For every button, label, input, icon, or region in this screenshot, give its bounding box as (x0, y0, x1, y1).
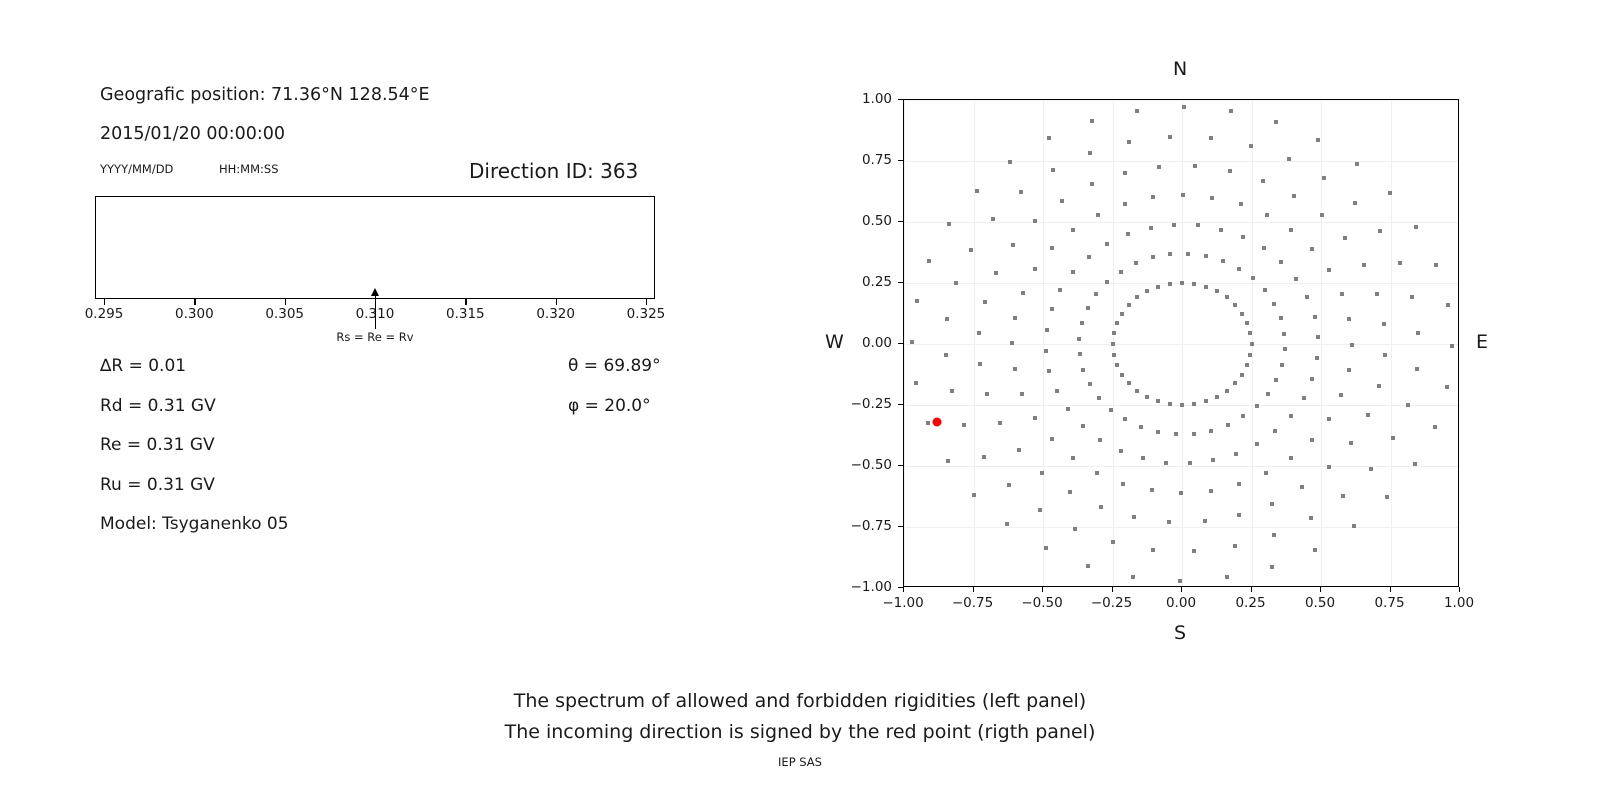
scatter-point (1270, 565, 1274, 569)
plot-gridlines (904, 100, 1458, 586)
scatter-point (1134, 261, 1138, 265)
scatter-point (1272, 533, 1276, 537)
scatter-point (1120, 373, 1124, 377)
x-axis-tick-label: 1.00 (1444, 595, 1474, 611)
scatter-point (1289, 456, 1293, 460)
spectrum-tick (465, 299, 466, 305)
x-axis-tick (1459, 587, 1460, 592)
caption-line-2: The incoming direction is signed by the … (0, 717, 1600, 748)
scatter-point (1151, 255, 1155, 259)
scatter-point (1066, 407, 1070, 411)
scatter-point (1250, 342, 1254, 346)
y-axis-tick-label: −0.75 (837, 518, 892, 534)
x-axis-tick (903, 587, 904, 592)
scatter-point (1265, 213, 1269, 217)
scatter-point (1414, 225, 1418, 229)
scatter-point (1050, 246, 1054, 250)
scatter-point (1182, 105, 1186, 109)
y-axis-tick (898, 221, 903, 222)
scatter-point (1156, 399, 1160, 403)
scatter-point (1115, 321, 1119, 325)
spectrum-tick (104, 299, 105, 305)
scatter-point (1352, 524, 1356, 528)
scatter-point (1105, 280, 1109, 284)
scatter-point (1011, 243, 1015, 247)
scatter-point (1226, 423, 1230, 427)
scatter-point (1310, 247, 1314, 251)
scatter-point (1215, 395, 1219, 399)
x-axis-tick-label: 0.50 (1305, 595, 1335, 611)
scatter-point (1434, 263, 1438, 267)
scatter-point (1013, 316, 1017, 320)
scatter-point (1347, 368, 1351, 372)
scatter-point (1239, 202, 1243, 206)
geographic-position-label: Geografic position: 71.36°N 128.54°E (100, 85, 430, 105)
scatter-point (1261, 179, 1265, 183)
y-axis-tick-label: −0.25 (837, 396, 892, 412)
scatter-point (1156, 430, 1160, 434)
scatter-point (1248, 353, 1252, 357)
parameter-row: ∆R = 0.01 (100, 356, 186, 376)
scatter-point (1375, 292, 1379, 296)
scatter-point (1050, 307, 1054, 311)
x-axis-tick (1390, 587, 1391, 592)
scatter-point (1248, 331, 1252, 335)
scatter-point (1410, 295, 1414, 299)
scatter-point (1382, 322, 1386, 326)
scatter-point (1320, 213, 1324, 217)
scatter-point (1221, 259, 1225, 263)
scatter-point (1008, 160, 1012, 164)
scatter-point (1164, 461, 1168, 465)
scatter-point (1192, 282, 1196, 286)
scatter-point (1255, 404, 1259, 408)
scatter-point (1192, 402, 1196, 406)
scatter-point (1045, 328, 1049, 332)
scatter-point (1086, 306, 1090, 310)
scatter-point (1274, 120, 1278, 124)
scatter-point (1327, 268, 1331, 272)
scatter-point (1126, 232, 1130, 236)
scatter-point (1225, 295, 1229, 299)
scatter-point (1112, 331, 1116, 335)
y-axis-tick-label: 0.50 (837, 213, 892, 229)
scatter-point (1111, 540, 1115, 544)
scatter-point (1055, 389, 1059, 393)
scatter-point (1398, 261, 1402, 265)
scatter-point (1249, 144, 1253, 148)
rigidity-spectrum-bar (95, 196, 655, 299)
scatter-point (1240, 373, 1244, 377)
scatter-point (1406, 403, 1410, 407)
scatter-point (1157, 165, 1161, 169)
scatter-point (1343, 236, 1347, 240)
scatter-point (1094, 292, 1098, 296)
gridline-horizontal (904, 344, 1458, 345)
caption-line-1: The spectrum of allowed and forbidden ri… (0, 686, 1600, 717)
scatter-point (1188, 461, 1192, 465)
scatter-point (1068, 490, 1072, 494)
scatter-point (977, 331, 981, 335)
scatter-point (1416, 331, 1420, 335)
scatter-point (1131, 575, 1135, 579)
scatter-point (1095, 471, 1099, 475)
scatter-point (1088, 151, 1092, 155)
scatter-point (1013, 367, 1017, 371)
rs-marker-arrow-head (371, 288, 379, 296)
scatter-point (1088, 382, 1092, 386)
gridline-horizontal (904, 527, 1458, 528)
scatter-point (1019, 190, 1023, 194)
scatter-point (944, 353, 948, 357)
scatter-point (1233, 381, 1237, 385)
scatter-point (1020, 392, 1024, 396)
gridline-vertical (1043, 100, 1044, 586)
scatter-point (1294, 277, 1298, 281)
scatter-point (1145, 289, 1149, 293)
y-axis-tick-label: 0.00 (837, 335, 892, 351)
scatter-point (927, 259, 931, 263)
scatter-point (1180, 403, 1184, 407)
scatter-point (1010, 341, 1014, 345)
gridline-vertical (1391, 100, 1392, 586)
scatter-point (1228, 169, 1232, 173)
scatter-point (1273, 429, 1277, 433)
scatter-point (926, 421, 930, 425)
scatter-point (1073, 527, 1077, 531)
x-axis-tick-label: −0.25 (1091, 595, 1132, 611)
scatter-point (1181, 193, 1185, 197)
y-axis-tick (898, 160, 903, 161)
x-axis-tick-label: 0.75 (1374, 595, 1404, 611)
scatter-point (1047, 369, 1051, 373)
scatter-point (1366, 413, 1370, 417)
scatter-point (1168, 252, 1172, 256)
scatter-point (1099, 505, 1103, 509)
x-axis-tick (973, 587, 974, 592)
scatter-point (1121, 482, 1125, 486)
scatter-point (1377, 384, 1381, 388)
scatter-point (1149, 226, 1153, 230)
scatter-point (1081, 368, 1085, 372)
y-axis-tick-label: 0.75 (837, 152, 892, 168)
scatter-point (969, 248, 973, 252)
scatter-point (1255, 442, 1259, 446)
parameter-row: Re = 0.31 GV (100, 435, 215, 455)
scatter-point (1123, 417, 1127, 421)
compass-south-label: S (1174, 622, 1186, 644)
scatter-point (1051, 168, 1055, 172)
parameter-row: Rd = 0.31 GV (100, 396, 216, 416)
scatter-point (1445, 385, 1449, 389)
scatter-point (1310, 438, 1314, 442)
scatter-point (947, 222, 951, 226)
direction-map-panel: N S W E −1.00−0.75−0.50−0.250.000.250.50… (800, 0, 1600, 660)
scatter-point (1007, 483, 1011, 487)
scatter-point (1168, 135, 1172, 139)
scatter-point (1098, 438, 1102, 442)
x-axis-tick (1042, 587, 1043, 592)
gridline-horizontal (904, 222, 1458, 223)
scatter-point (1033, 267, 1037, 271)
parameter-row: θ = 69.89° (568, 356, 661, 376)
spectrum-tick (556, 299, 557, 305)
scatter-point (1179, 491, 1183, 495)
scatter-point (1229, 109, 1233, 113)
scatter-point (1413, 462, 1417, 466)
scatter-point (1309, 516, 1313, 520)
scatter-point (998, 421, 1002, 425)
scatter-point (1123, 171, 1127, 175)
scatter-point (1234, 452, 1238, 456)
scatter-point (1388, 191, 1392, 195)
scatter-point (1123, 202, 1127, 206)
scatter-point (1135, 109, 1139, 113)
spectrum-tick (646, 299, 647, 305)
scatter-point (1349, 441, 1353, 445)
scatter-point (1167, 520, 1171, 524)
scatter-point (1005, 522, 1009, 526)
scatter-point (975, 189, 979, 193)
scatter-point (1180, 281, 1184, 285)
scatter-point (983, 300, 987, 304)
scatter-point (1096, 213, 1100, 217)
scatter-point (1241, 414, 1245, 418)
scatter-point (1241, 235, 1245, 239)
scatter-point (1203, 519, 1207, 523)
scatter-point (1322, 176, 1326, 180)
scatter-point (1135, 295, 1139, 299)
scatter-point (1151, 195, 1155, 199)
scatter-point (962, 423, 966, 427)
scatter-point (1150, 488, 1154, 492)
scatter-point (1251, 276, 1255, 280)
scatter-point (1168, 282, 1172, 286)
gridline-horizontal (904, 161, 1458, 162)
rigidity-spectrum-panel: Geografic position: 71.36°N 128.54°E 201… (0, 0, 760, 660)
y-axis-tick (898, 282, 903, 283)
date-format-hint: YYYY/MM/DD (100, 162, 173, 176)
x-axis-tick-label: −0.75 (952, 595, 993, 611)
scatter-point (1378, 229, 1382, 233)
scatter-point (1145, 395, 1149, 399)
parameter-row: Ru = 0.31 GV (100, 475, 215, 495)
scatter-point (1080, 321, 1084, 325)
gridline-horizontal (904, 100, 1458, 101)
scatter-point (1316, 335, 1320, 339)
scatter-point (1033, 219, 1037, 223)
scatter-point (978, 362, 982, 366)
scatter-point (1047, 136, 1051, 140)
scatter-point (1120, 312, 1124, 316)
x-axis-tick (1112, 587, 1113, 592)
gridline-vertical (1321, 100, 1322, 586)
scatter-point (945, 317, 949, 321)
scatter-point (1033, 416, 1037, 420)
scatter-point (1316, 138, 1320, 142)
scatter-point (1245, 363, 1249, 367)
x-axis-tick-label: 0.25 (1235, 595, 1265, 611)
scatter-point (1204, 285, 1208, 289)
scatter-point (1172, 223, 1176, 227)
scatter-point (1071, 228, 1075, 232)
rs-marker-arrow-shaft (375, 295, 376, 329)
scatter-point (1210, 196, 1214, 200)
scatter-point (1071, 270, 1075, 274)
scatter-point (1127, 381, 1131, 385)
footer-label: IEP SAS (0, 755, 1600, 769)
scatter-point (1017, 448, 1021, 452)
scatter-point (1347, 317, 1351, 321)
scatter-point (1237, 513, 1241, 517)
scatter-point (1086, 564, 1090, 568)
scatter-point (1353, 201, 1357, 205)
y-axis-tick-label: −0.50 (837, 457, 892, 473)
scatter-point (985, 392, 989, 396)
scatter-point (1225, 575, 1229, 579)
compass-north-label: N (1173, 58, 1187, 80)
scatter-point (1111, 342, 1115, 346)
scatter-point (1270, 502, 1274, 506)
scatter-point (1446, 303, 1450, 307)
scatter-point (1225, 389, 1229, 393)
scatter-point (1081, 424, 1085, 428)
scatter-point (1263, 288, 1267, 292)
scatter-point (914, 381, 918, 385)
scatter-point (1196, 223, 1200, 227)
scatter-point (1262, 246, 1266, 250)
gridline-vertical (1182, 100, 1183, 586)
x-axis-tick-label: −1.00 (882, 595, 923, 611)
scatter-point (1279, 316, 1283, 320)
scatter-point (1156, 285, 1160, 289)
scatter-point (1044, 349, 1048, 353)
scatter-point (1209, 489, 1213, 493)
scatter-point (1097, 396, 1101, 400)
y-axis-tick (898, 99, 903, 100)
scatter-point (1274, 378, 1278, 382)
scatter-point (1141, 456, 1145, 460)
scatter-point (1266, 392, 1270, 396)
scatter-point (1313, 315, 1317, 319)
scatter-point (1245, 321, 1249, 325)
scatter-point (1289, 228, 1293, 232)
scatter-point (950, 389, 954, 393)
spectrum-tick-label: 0.315 (446, 306, 485, 322)
selected-direction-point (933, 418, 942, 427)
scatter-point (1127, 303, 1131, 307)
scatter-point (1339, 393, 1343, 397)
scatter-point (1240, 312, 1244, 316)
spectrum-tick (194, 299, 195, 305)
scatter-point (1087, 255, 1091, 259)
scatter-point (1209, 136, 1213, 140)
y-axis-tick-label: 1.00 (837, 91, 892, 107)
spectrum-tick-label: 0.295 (85, 306, 124, 322)
scatter-point (1044, 546, 1048, 550)
scatter-point (910, 340, 914, 344)
scatter-point (1168, 402, 1172, 406)
x-axis-tick (1251, 587, 1252, 592)
y-axis-tick (898, 404, 903, 405)
scatter-point (1040, 471, 1044, 475)
scatter-point (1204, 254, 1208, 258)
x-axis-tick-label: −0.50 (1021, 595, 1062, 611)
y-axis-tick (898, 343, 903, 344)
scatter-point (1327, 417, 1331, 421)
scatter-point (1280, 363, 1284, 367)
scatter-point (1090, 182, 1094, 186)
x-axis-tick (1181, 587, 1182, 592)
scatter-point (1289, 414, 1293, 418)
scatter-point (1204, 399, 1208, 403)
direction-id-label: Direction ID: 363 (469, 159, 638, 183)
y-axis-tick-label: −1.00 (837, 579, 892, 595)
scatter-point (1071, 456, 1075, 460)
scatter-point (1340, 292, 1344, 296)
scatter-point (1139, 425, 1143, 429)
x-axis-tick-label: 0.00 (1166, 595, 1196, 611)
x-axis-tick (1320, 587, 1321, 592)
gridline-vertical (974, 100, 975, 586)
spectrum-frame (95, 196, 655, 299)
scatter-point (1282, 332, 1286, 336)
figure-caption: The spectrum of allowed and forbidden ri… (0, 686, 1600, 748)
scatter-point (1362, 263, 1366, 267)
scatter-point (946, 459, 950, 463)
scatter-point (1300, 485, 1304, 489)
scatter-point (1135, 389, 1139, 393)
scatter-point (1237, 267, 1241, 271)
scatter-point (1313, 548, 1317, 552)
scatter-point (1077, 337, 1081, 341)
scatter-point (1115, 363, 1119, 367)
gridline-horizontal (904, 466, 1458, 467)
scatter-point (1341, 494, 1345, 498)
scatter-point (1119, 270, 1123, 274)
scatter-point (1233, 544, 1237, 548)
parameter-row: Model: Tsyganenko 05 (100, 514, 289, 534)
scatter-point (1178, 579, 1182, 583)
scatter-point (1192, 432, 1196, 436)
rs-marker-label: Rs = Re = Rv (336, 330, 413, 344)
scatter-point (1078, 352, 1082, 356)
gridline-vertical (904, 100, 905, 586)
time-format-hint: HH:MM:SS (219, 162, 279, 176)
spectrum-tick-label: 0.325 (627, 306, 666, 322)
scatter-point (1315, 356, 1319, 360)
scatter-point (1021, 291, 1025, 295)
spectrum-tick (285, 299, 286, 305)
scatter-point (1233, 303, 1237, 307)
scatter-point (1385, 495, 1389, 499)
scatter-point (1310, 377, 1314, 381)
scatter-point (994, 271, 998, 275)
scatter-point (1151, 548, 1155, 552)
scatter-point (1415, 367, 1419, 371)
scatter-point (1119, 449, 1123, 453)
scatter-point (1060, 199, 1064, 203)
scatter-point (1050, 437, 1054, 441)
scatter-point (1105, 242, 1109, 246)
compass-east-label: E (1476, 331, 1488, 353)
scatter-point (1355, 162, 1359, 166)
scatter-point (1302, 396, 1306, 400)
scatter-point (1283, 347, 1287, 351)
scatter-point (1287, 157, 1291, 161)
scatter-point (1264, 471, 1268, 475)
scatter-point (1272, 302, 1276, 306)
